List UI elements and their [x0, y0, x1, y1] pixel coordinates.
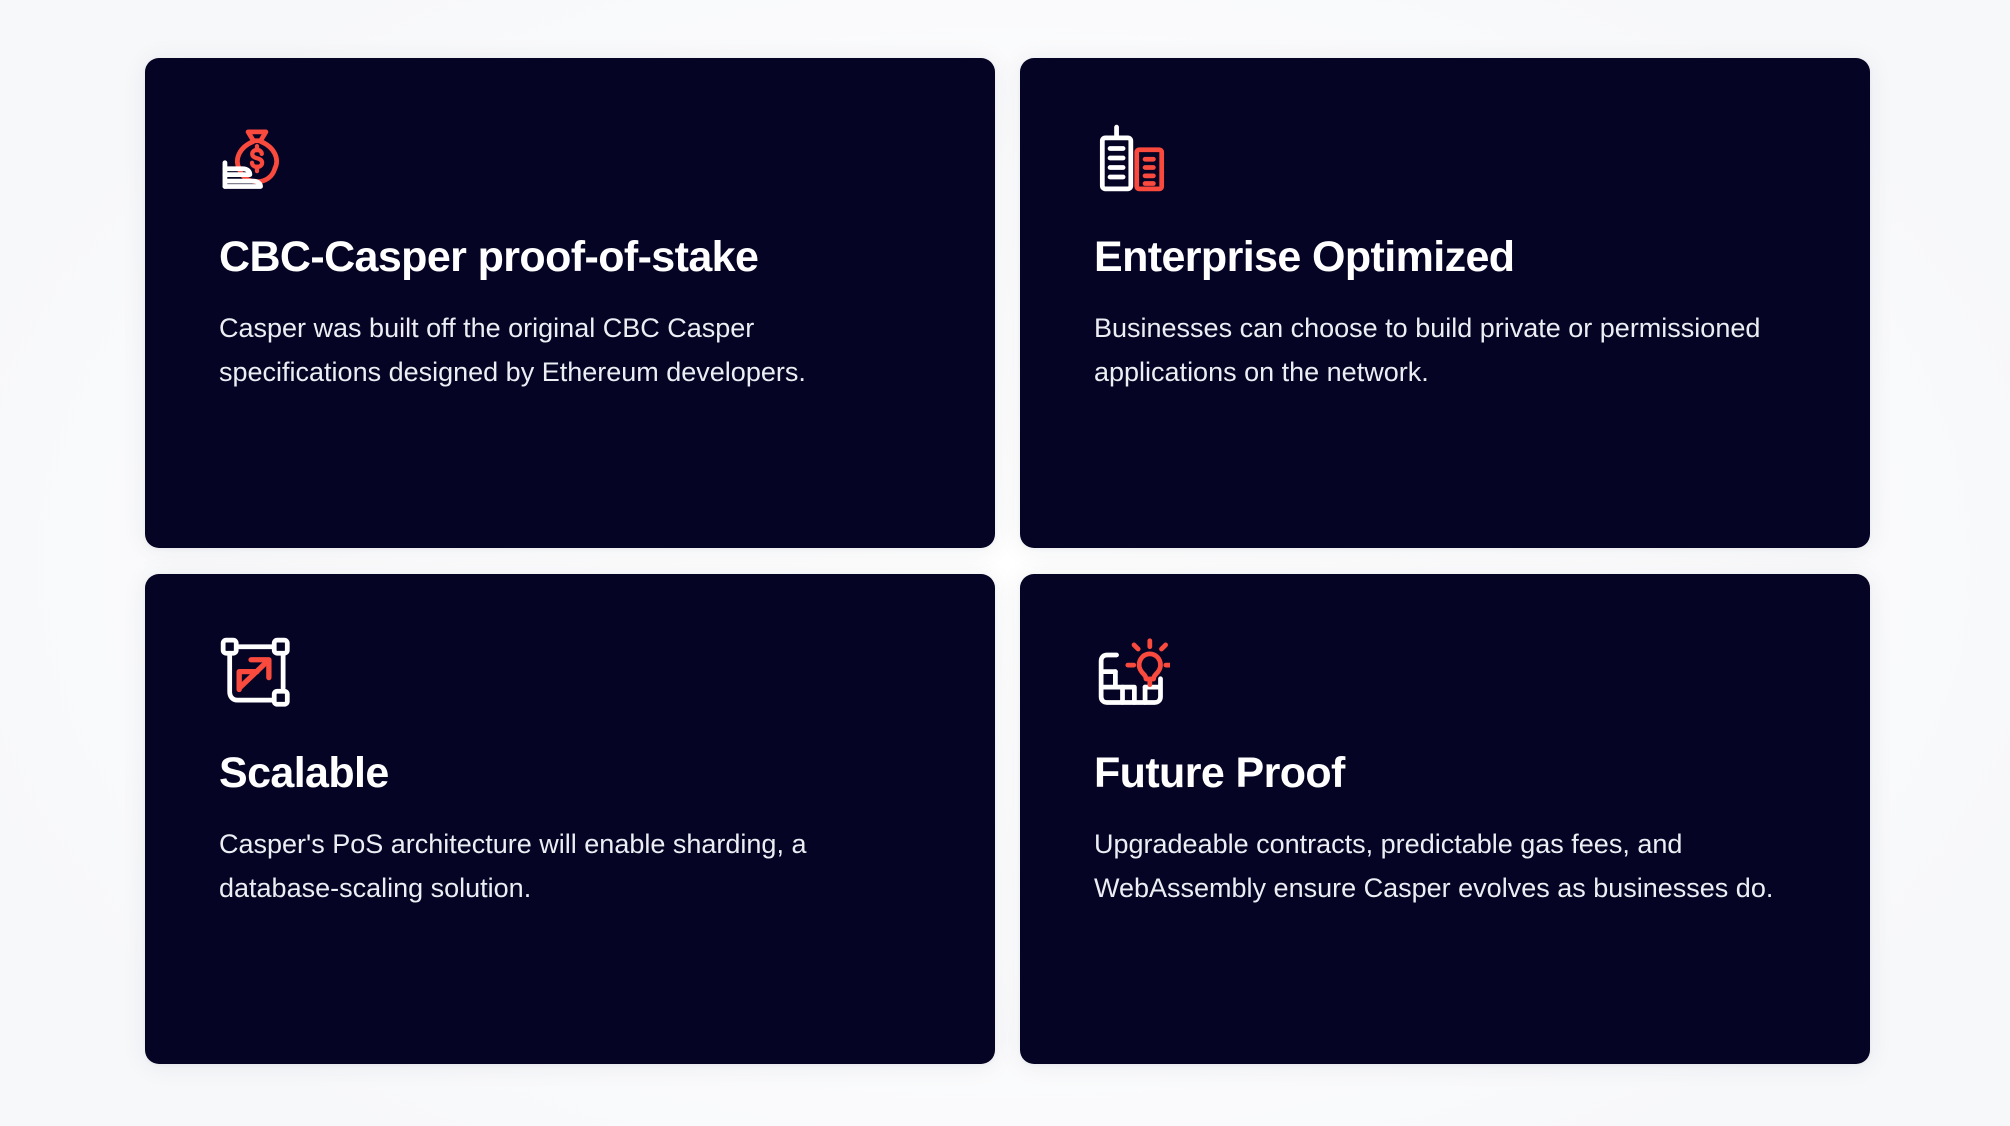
feature-cards-page: CBC-Casper proof-of-stake Casper was bui…	[0, 0, 2010, 1126]
feature-card-title: CBC-Casper proof-of-stake	[219, 234, 921, 281]
scale-expand-arrow-icon	[219, 636, 295, 712]
feature-card-future-proof[interactable]: Future Proof Upgradeable contracts, pred…	[1020, 574, 1870, 1064]
feature-card-title: Scalable	[219, 750, 921, 797]
blueprint-lightbulb-icon	[1094, 636, 1170, 712]
feature-card-body: Casper was built off the original CBC Ca…	[219, 307, 919, 394]
feature-card-grid: CBC-Casper proof-of-stake Casper was bui…	[145, 58, 1870, 1064]
feature-card-scalable[interactable]: Scalable Casper's PoS architecture will …	[145, 574, 995, 1064]
feature-card-title: Enterprise Optimized	[1094, 234, 1796, 281]
feature-card-cbc-casper-proof-of-stake[interactable]: CBC-Casper proof-of-stake Casper was bui…	[145, 58, 995, 548]
feature-card-body: Businesses can choose to build private o…	[1094, 307, 1794, 394]
office-buildings-icon	[1094, 120, 1170, 196]
money-bag-stake-icon	[219, 120, 295, 196]
feature-card-body: Casper's PoS architecture will enable sh…	[219, 823, 919, 910]
feature-card-title: Future Proof	[1094, 750, 1796, 797]
feature-card-enterprise-optimized[interactable]: Enterprise Optimized Businesses can choo…	[1020, 58, 1870, 548]
feature-card-body: Upgradeable contracts, predictable gas f…	[1094, 823, 1794, 910]
